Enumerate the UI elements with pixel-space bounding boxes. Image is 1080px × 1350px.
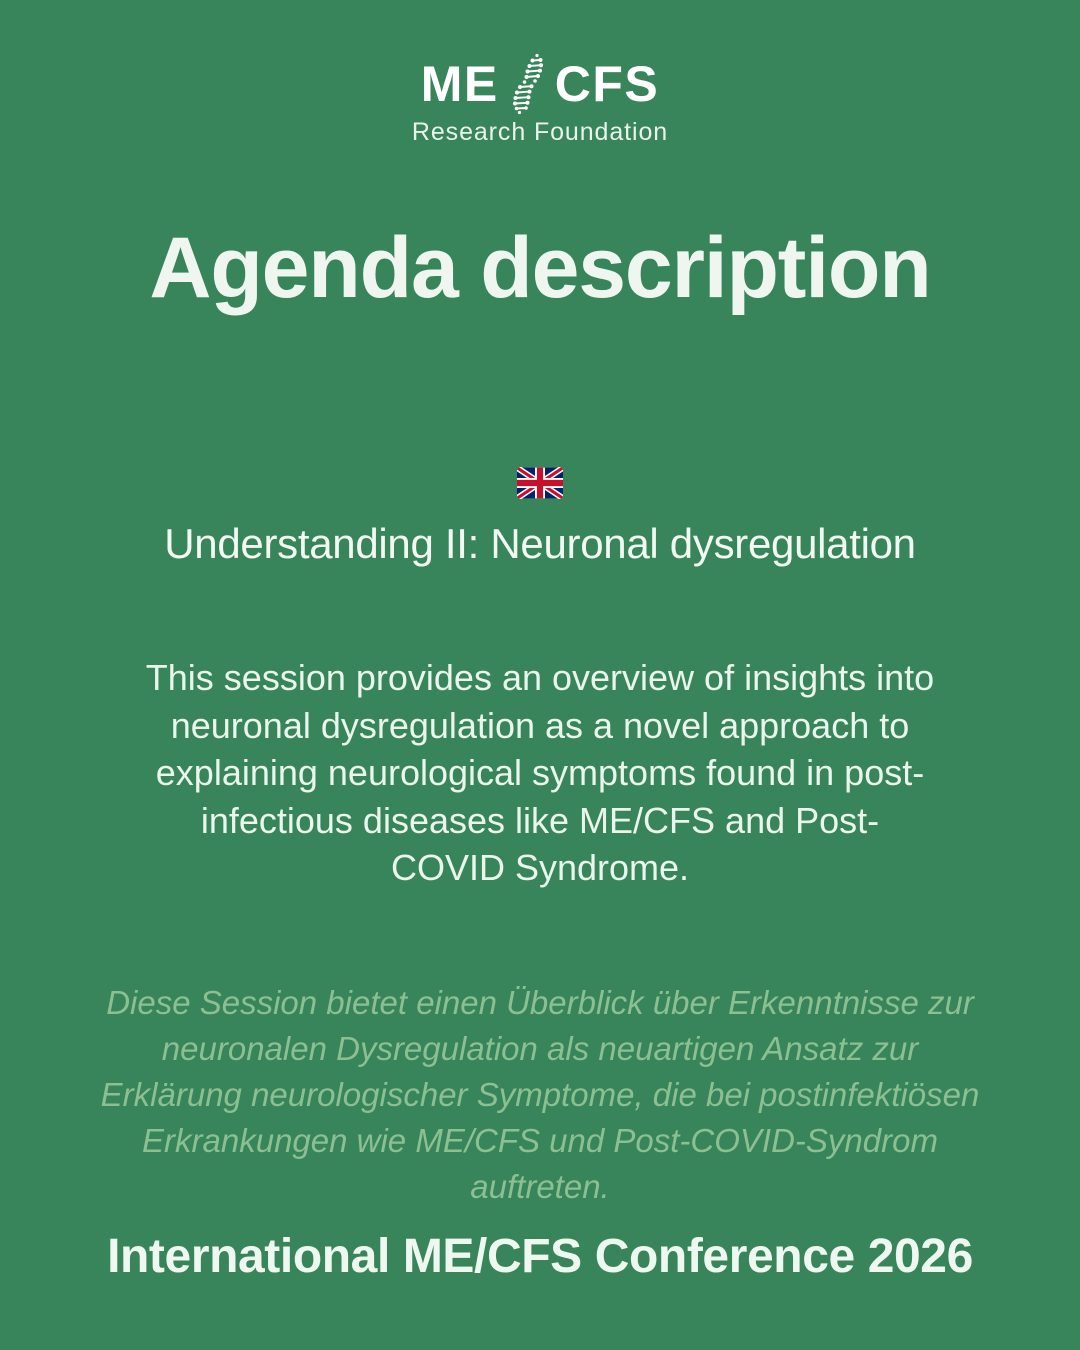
logo-subtitle: Research Foundation <box>412 119 668 147</box>
page-title: Agenda description <box>149 225 930 313</box>
session-description-en: This session provides an overview of ins… <box>145 654 935 892</box>
logo-word-me: ME <box>421 59 499 109</box>
session-description-de: Diese Session bietet einen Überblick übe… <box>100 980 980 1211</box>
uk-flag-icon <box>517 467 563 499</box>
session-title: Understanding II: Neuronal dysregulation <box>164 520 915 568</box>
dna-helix-icon <box>507 53 549 115</box>
logo-word-cfs: CFS <box>555 59 660 109</box>
logo-wordmark: ME <box>421 56 660 112</box>
organisation-logo: ME <box>412 56 668 147</box>
conference-footer: International ME/CFS Conference 2026 <box>0 1231 1080 1284</box>
language-flag <box>517 466 563 500</box>
agenda-description-poster: ME <box>0 0 1080 1350</box>
